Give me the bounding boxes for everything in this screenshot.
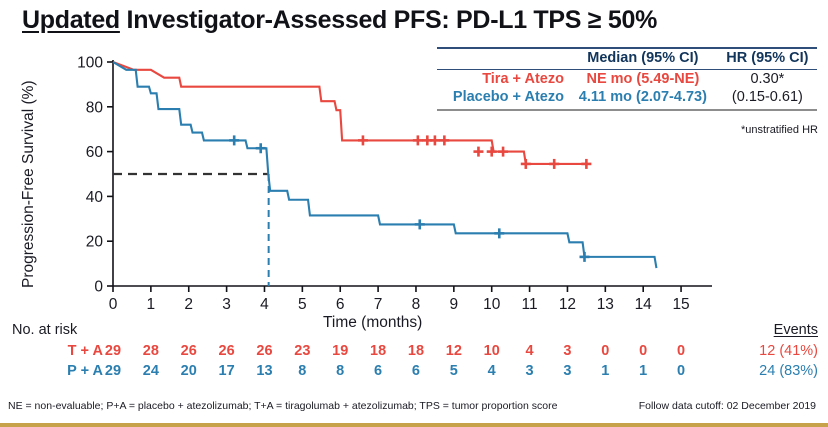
- page-title: Updated Investigator-Assessed PFS: PD-L1…: [22, 6, 657, 35]
- title-rest: Investigator-Assessed PFS: PD-L1 TPS ≥ 5…: [120, 6, 657, 34]
- y-tick-label: 60: [86, 144, 104, 161]
- at-risk-arm-label: P + A: [51, 363, 103, 379]
- at-risk-header: No. at risk: [12, 322, 77, 338]
- at-risk-count: 20: [174, 363, 204, 379]
- at-risk-count: 23: [287, 343, 317, 359]
- at-risk-count: 0: [590, 343, 620, 359]
- x-tick-label: 1: [147, 296, 156, 313]
- censor-mark: [521, 159, 531, 169]
- censor-mark: [413, 135, 423, 145]
- at-risk-count: 1: [628, 363, 658, 379]
- censor-mark: [549, 159, 559, 169]
- x-tick-label: 15: [672, 296, 689, 313]
- x-axis-title: Time (months): [323, 314, 422, 332]
- at-risk-count: 26: [174, 343, 204, 359]
- censor-mark: [473, 147, 483, 157]
- x-tick-label: 6: [336, 296, 345, 313]
- at-risk-count: 3: [552, 363, 582, 379]
- at-risk-count: 12: [439, 343, 469, 359]
- events-value: 24 (83%): [759, 363, 818, 379]
- at-risk-count: 13: [249, 363, 279, 379]
- at-risk-count: 26: [249, 343, 279, 359]
- x-tick-label: 4: [260, 296, 269, 313]
- at-risk-count: 18: [363, 343, 393, 359]
- at-risk-count: 18: [401, 343, 431, 359]
- at-risk-count: 5: [439, 363, 469, 379]
- at-risk-count: 10: [477, 343, 507, 359]
- accent-bar: [0, 423, 828, 427]
- events-header: Events: [774, 322, 818, 338]
- x-tick-label: 13: [597, 296, 614, 313]
- at-risk-count: 26: [212, 343, 242, 359]
- at-risk-count: 0: [628, 343, 658, 359]
- at-risk-count: 29: [98, 363, 128, 379]
- at-risk-arm-label: T + A: [51, 343, 103, 359]
- censor-mark: [358, 135, 368, 145]
- abbreviations-note: NE = non-evaluable; P+A = placebo + atez…: [8, 400, 557, 412]
- at-risk-count: 8: [325, 363, 355, 379]
- at-risk-count: 28: [136, 343, 166, 359]
- x-tick-label: 3: [222, 296, 231, 313]
- at-risk-count: 3: [552, 343, 582, 359]
- at-risk-count: 0: [666, 343, 696, 359]
- km-plot: 0204060801000123456789101112131415: [0, 40, 760, 325]
- y-tick-label: 20: [86, 234, 104, 251]
- at-risk-count: 1: [590, 363, 620, 379]
- at-risk-count: 24: [136, 363, 166, 379]
- at-risk-row-tira: T + A29282626262319181812104300012 (41%): [0, 343, 828, 362]
- at-risk-count: 6: [363, 363, 393, 379]
- x-tick-label: 8: [412, 296, 421, 313]
- x-tick-label: 11: [522, 296, 538, 313]
- censor-mark: [430, 135, 440, 145]
- km-curve-pa: [113, 62, 656, 268]
- y-tick-label: 0: [94, 279, 103, 296]
- x-tick-label: 9: [450, 296, 459, 313]
- x-tick-label: 12: [559, 296, 576, 313]
- censor-mark: [229, 135, 239, 145]
- slide-root: Updated Investigator-Assessed PFS: PD-L1…: [0, 0, 828, 427]
- at-risk-count: 0: [666, 363, 696, 379]
- x-tick-label: 0: [109, 296, 118, 313]
- censor-mark: [579, 252, 589, 262]
- x-tick-label: 5: [298, 296, 307, 313]
- x-tick-label: 10: [483, 296, 501, 313]
- at-risk-count: 19: [325, 343, 355, 359]
- x-tick-label: 2: [184, 296, 193, 313]
- title-underlined-word: Updated: [22, 6, 120, 34]
- at-risk-count: 4: [515, 343, 545, 359]
- data-cutoff-note: Follow data cutoff: 02 December 2019: [639, 400, 816, 412]
- censor-mark: [498, 147, 508, 157]
- censor-mark: [494, 228, 504, 238]
- at-risk-count: 29: [98, 343, 128, 359]
- y-tick-label: 100: [77, 55, 103, 72]
- km-curve-ta: [113, 62, 586, 164]
- censor-mark: [581, 159, 591, 169]
- at-risk-count: 6: [401, 363, 431, 379]
- at-risk-count: 17: [212, 363, 242, 379]
- x-tick-label: 7: [374, 296, 383, 313]
- y-tick-label: 40: [86, 189, 104, 206]
- at-risk-count: 3: [515, 363, 545, 379]
- censor-mark: [415, 219, 425, 229]
- events-value: 12 (41%): [759, 343, 818, 359]
- censor-mark: [439, 135, 449, 145]
- at-risk-count: 4: [477, 363, 507, 379]
- censor-mark: [487, 147, 497, 157]
- at-risk-count: 8: [287, 363, 317, 379]
- y-tick-label: 80: [86, 99, 104, 116]
- censor-mark: [256, 143, 266, 153]
- at-risk-row-placebo: P + A29242017138866543311024 (83%): [0, 363, 828, 382]
- x-tick-label: 14: [635, 296, 653, 313]
